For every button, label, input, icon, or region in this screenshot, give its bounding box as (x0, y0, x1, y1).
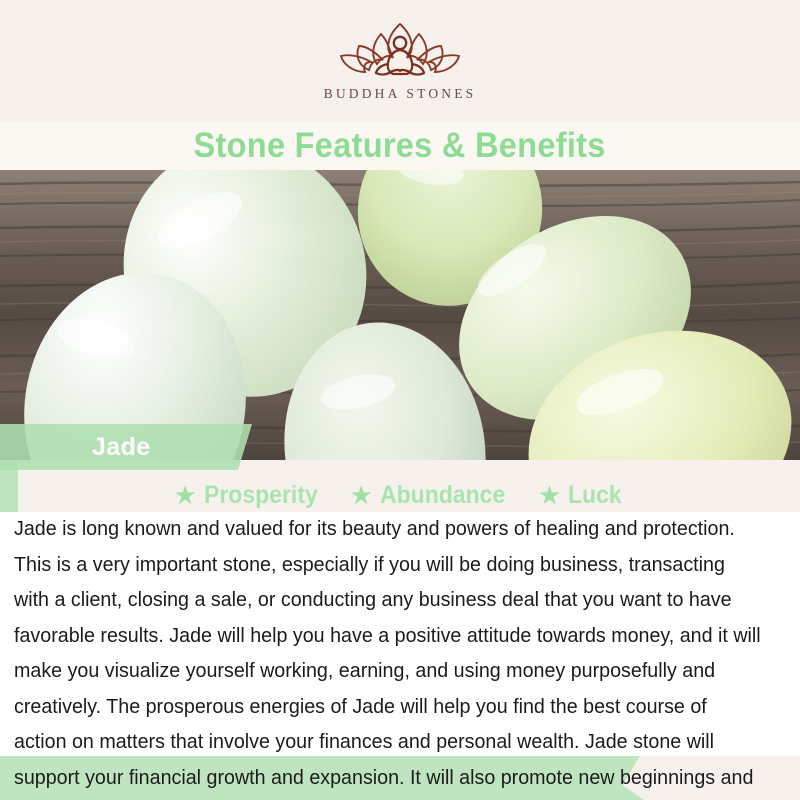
description-text: Jade is long known and valued for its be… (14, 512, 763, 800)
benefit-item-abundance: ★ Abundance (349, 481, 515, 510)
stone-name-band: Jade (0, 424, 252, 470)
star-icon: ★ (538, 482, 561, 508)
description-panel: Jade is long known and valued for its be… (0, 512, 800, 756)
benefit-item-prosperity: ★ Prosperity (173, 481, 327, 510)
title-band: Stone Features & Benefits (0, 122, 800, 170)
brand-wordmark: BUDDHA STONES (324, 86, 477, 102)
benefit-item-luck: ★ Luck (538, 481, 627, 510)
infographic-page: BUDDHA STONES Stone Features & Benefits … (0, 0, 800, 800)
benefit-label: Abundance (380, 481, 505, 510)
page-title: Stone Features & Benefits (194, 126, 606, 166)
lotus-meditation-icon (325, 18, 475, 80)
star-icon: ★ (349, 482, 372, 508)
benefits-row: ★ Prosperity ★ Abundance ★ Luck (0, 478, 800, 512)
stone-photo (0, 170, 800, 460)
benefit-label: Prosperity (204, 481, 318, 510)
star-icon: ★ (173, 482, 196, 508)
benefit-label: Luck (568, 481, 622, 510)
stone-name-label: Jade (92, 433, 151, 462)
brand-header: BUDDHA STONES (0, 0, 800, 122)
stone-photo-illustration (0, 170, 800, 460)
